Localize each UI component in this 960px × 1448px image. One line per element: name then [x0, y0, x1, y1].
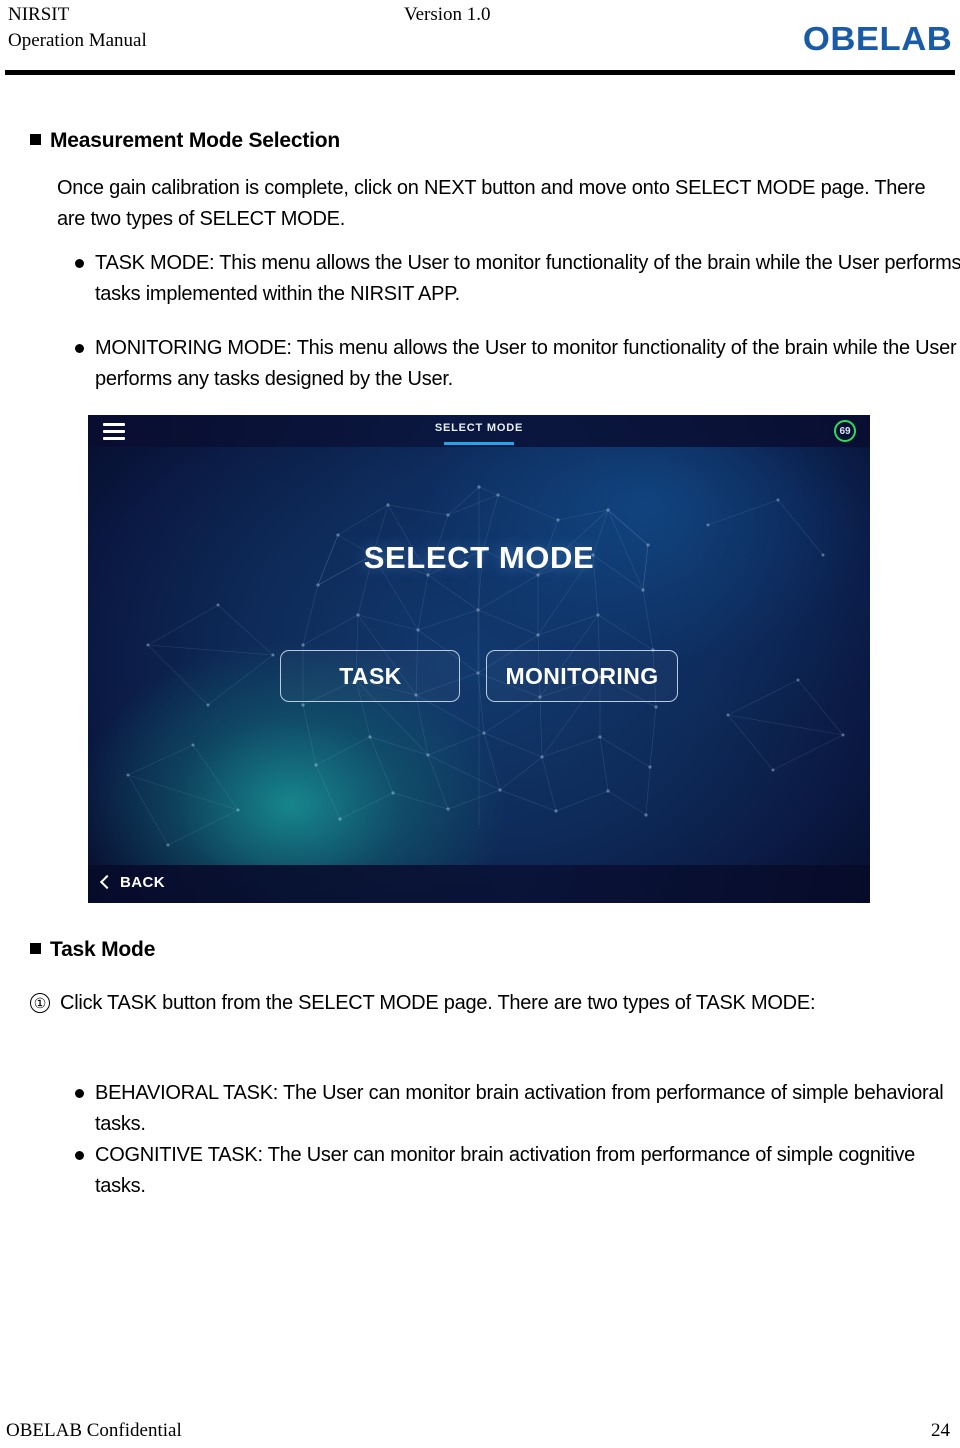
back-button[interactable]: BACK	[102, 874, 165, 891]
bullet-item-task-mode: TASK MODE: This menu allows the User to …	[75, 248, 960, 310]
footer-confidential: OBELAB Confidential	[6, 1420, 182, 1442]
footer-page-number: 24	[931, 1420, 950, 1442]
round-bullet-icon	[75, 259, 84, 268]
square-bullet-icon	[30, 134, 41, 145]
app-bottom-bar: BACK	[88, 865, 870, 903]
bullet-item-cognitive-task: COGNITIVE TASK: The User can monitor bra…	[75, 1140, 960, 1202]
document-title-line1: NIRSIT	[8, 4, 69, 25]
round-bullet-icon	[75, 1089, 84, 1098]
back-button-label: BACK	[120, 874, 165, 891]
section-heading-measurement-mode: Measurement Mode Selection	[30, 127, 340, 155]
bullet-item-monitoring-mode: MONITORING MODE: This menu allows the Us…	[75, 333, 960, 395]
numbered-step-1: ① Click TASK button from the SELECT MODE…	[30, 988, 930, 1019]
app-screenshot-select-mode: SELECT MODE 69 SELECT MODE TASK MONITORI…	[88, 415, 870, 903]
battery-status-badge: 69	[834, 420, 856, 442]
obelab-logo: OBELAB	[803, 22, 952, 55]
bullet-item-behavioral-task: BEHAVIORAL TASK: The User can monitor br…	[75, 1078, 960, 1140]
document-title: NIRSITOperation Manual	[8, 2, 147, 54]
round-bullet-icon	[75, 344, 84, 353]
task-mode-button[interactable]: TASK	[280, 650, 460, 702]
step-text: Click TASK button from the SELECT MODE p…	[60, 988, 815, 1019]
monitoring-mode-button[interactable]: MONITORING	[486, 650, 677, 702]
bullet-text: TASK MODE: This menu allows the User to …	[95, 248, 960, 310]
document-version: Version 1.0	[404, 2, 491, 28]
app-page-title: SELECT MODE	[88, 540, 870, 576]
measurement-mode-paragraph: Once gain calibration is complete, click…	[57, 173, 944, 235]
section-heading-task-mode: Task Mode	[30, 936, 155, 964]
document-title-line2: Operation Manual	[8, 30, 147, 51]
header-divider	[5, 70, 955, 75]
square-bullet-icon	[30, 943, 41, 954]
page-header: NIRSITOperation Manual Version 1.0 OBELA…	[0, 0, 960, 80]
mode-button-group: TASK MONITORING	[88, 650, 870, 702]
bullet-text: MONITORING MODE: This menu allows the Us…	[95, 333, 960, 395]
step-number: ①	[30, 993, 50, 1013]
topbar-active-underline	[444, 442, 514, 445]
bullet-text: COGNITIVE TASK: The User can monitor bra…	[95, 1140, 960, 1202]
chevron-left-icon	[100, 875, 114, 889]
bullet-text: BEHAVIORAL TASK: The User can monitor br…	[95, 1078, 960, 1140]
app-topbar: SELECT MODE 69	[88, 415, 870, 447]
topbar-title: SELECT MODE	[88, 422, 870, 434]
round-bullet-icon	[75, 1151, 84, 1160]
